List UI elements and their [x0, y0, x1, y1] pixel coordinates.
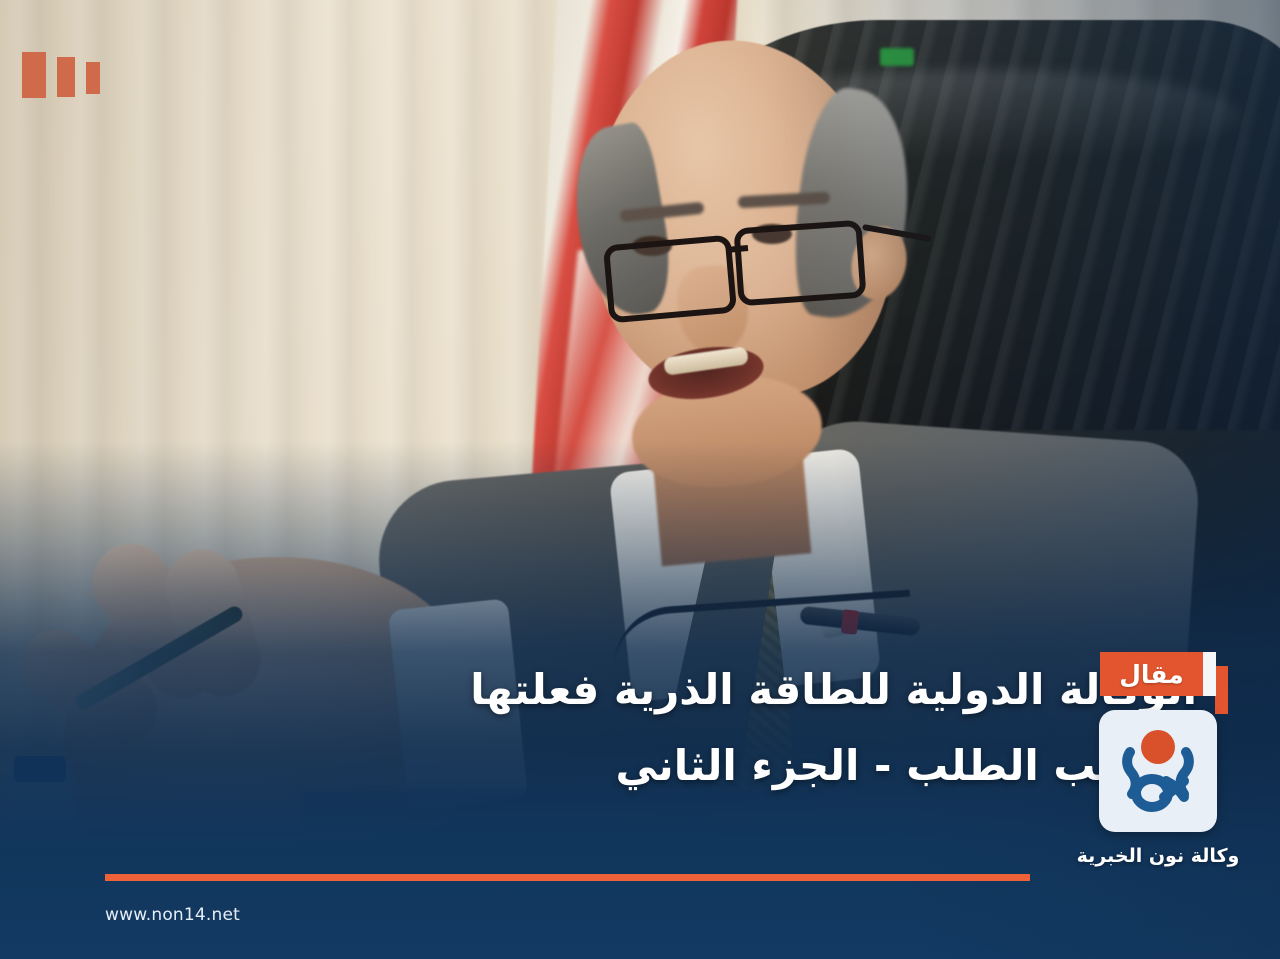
bar-2	[57, 57, 75, 97]
noon-agency-logo-icon[interactable]	[1099, 710, 1217, 832]
badge-white-tail	[1203, 652, 1216, 696]
category-badge-label: مقال	[1100, 652, 1203, 696]
site-url-label: www.non14.net	[105, 905, 240, 925]
bar-3	[86, 62, 100, 94]
category-badge[interactable]: مقال	[1100, 652, 1216, 696]
three-bars-decoration-icon	[22, 52, 100, 98]
orange-divider-rule-icon	[105, 874, 1030, 881]
bar-1	[22, 52, 46, 98]
brand-block: مقال وكالة نون الخبرية	[1058, 652, 1258, 867]
brand-name-label: وكالة نون الخبرية	[1077, 845, 1240, 867]
news-share-card: الوكالة الدولية للطاقة الذرية فعلتها وحس…	[0, 0, 1280, 959]
